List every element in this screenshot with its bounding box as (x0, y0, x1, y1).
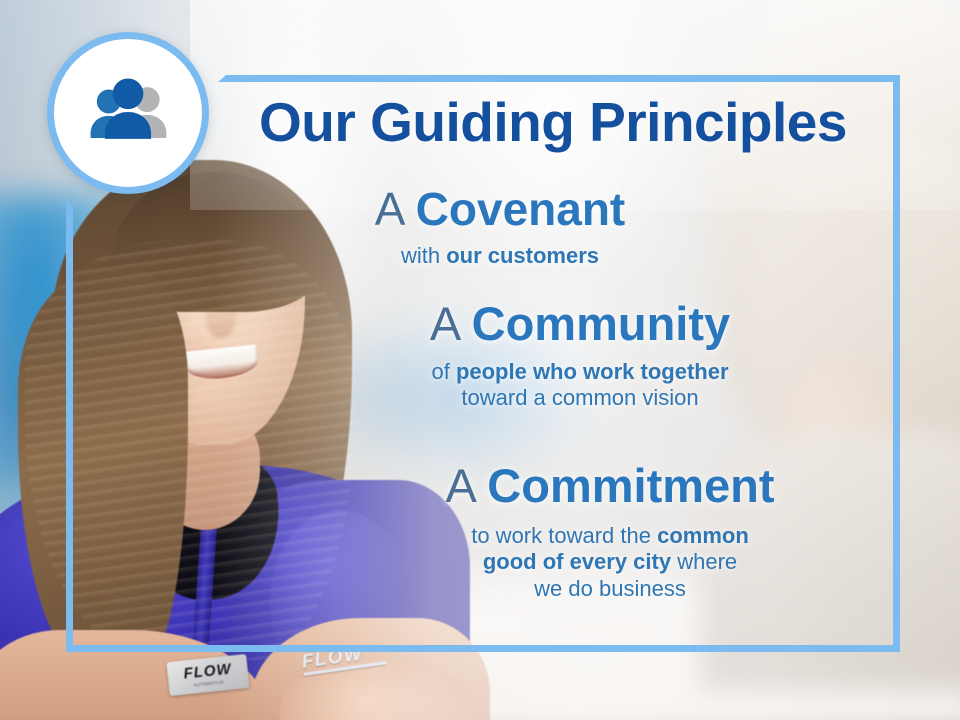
principle-commitment-subline-1: good of every city where (310, 549, 910, 575)
principle-community: A Community of people who work together … (280, 300, 880, 412)
principle-community-heading: A Community (280, 300, 880, 349)
page-title: Our Guiding Principles (218, 95, 888, 150)
principle-community-subline-0: of people who work together (280, 359, 880, 385)
subline-normal-before: toward a common vision (461, 385, 698, 410)
principle-community-word: Community (472, 297, 731, 350)
principle-covenant-subline-0: with our customers (200, 243, 800, 269)
subline-bold: good of every city (483, 549, 671, 574)
principle-community-subtext: of people who work together toward a com… (280, 359, 880, 412)
subline-bold: common (657, 523, 749, 548)
principle-covenant-article: A (375, 183, 416, 235)
principle-covenant-subtext: with our customers (200, 243, 800, 269)
principle-community-subline-1: toward a common vision (280, 385, 880, 411)
principle-covenant: A Covenant with our customers (200, 186, 800, 269)
principle-commitment-article: A (445, 459, 487, 512)
subline-normal-before: to work toward the (471, 523, 657, 548)
subline-normal-before: we do business (534, 576, 686, 601)
principle-covenant-word: Covenant (416, 183, 626, 235)
principle-commitment-heading: A Commitment (310, 462, 910, 511)
subline-normal-before: with (401, 243, 446, 268)
principle-commitment-subtext: to work toward the common good of every … (310, 523, 910, 602)
principle-covenant-heading: A Covenant (200, 186, 800, 234)
principle-commitment: A Commitment to work toward the common g… (310, 462, 910, 602)
principle-community-article: A (430, 297, 472, 350)
subline-bold: people who work together (456, 359, 729, 384)
subline-normal-before: of (431, 359, 455, 384)
text-layer: Our Guiding Principles A Covenant with o… (0, 0, 960, 720)
principle-commitment-subline-0: to work toward the common (310, 523, 910, 549)
subline-normal-after: where (671, 549, 737, 574)
principle-commitment-subline-2: we do business (310, 576, 910, 602)
principle-commitment-word: Commitment (487, 459, 774, 512)
guiding-principles-banner: FLOW AUTOMOTIVE FLOW (0, 0, 960, 720)
subline-bold: our customers (446, 243, 599, 268)
